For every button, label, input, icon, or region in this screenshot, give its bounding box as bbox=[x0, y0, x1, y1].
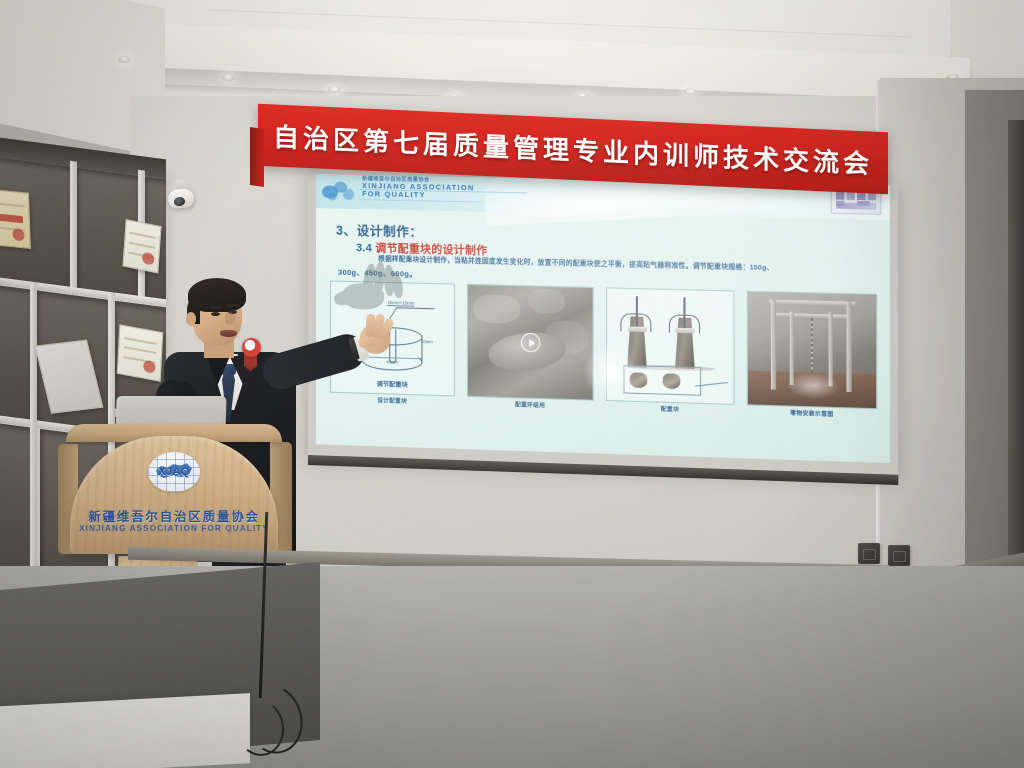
panel4-column-right bbox=[846, 301, 851, 392]
presenter-ear bbox=[186, 312, 196, 326]
red-flower-corsage bbox=[242, 338, 261, 357]
panel-rig-diagram: 零物安装示意图 bbox=[747, 291, 877, 424]
panel1-dim-top: 15mm+10mm bbox=[387, 300, 414, 307]
panel1-dim-bottom: 40mm bbox=[386, 360, 398, 365]
panel4-column-left bbox=[771, 299, 776, 389]
wall-socket-2[interactable] bbox=[888, 545, 910, 566]
presenter-mouth bbox=[220, 330, 237, 337]
panel4-glow bbox=[786, 372, 840, 401]
panel-assembly-photo: 配重环组用 bbox=[467, 284, 594, 415]
conference-room-photo: 新疆维吾尔自治区质量协会 XINJIANG ASSOCIATION FOR QU… bbox=[0, 0, 1024, 768]
panel4-chain bbox=[811, 318, 813, 372]
slide-panel-row: 15mm+10mm 30mm 40mm 调节配重块 设计配重块 bbox=[330, 281, 877, 424]
wall-socket-1[interactable] bbox=[858, 543, 880, 564]
panel-weight-blocks: 配重块 bbox=[606, 287, 734, 419]
lectern: XJAQ 新疆维吾尔自治区质量协会 XINJIANG ASSOCIATION F… bbox=[66, 424, 282, 564]
shelf-divider-v1 bbox=[70, 161, 77, 288]
panel1-center-slot bbox=[389, 329, 396, 363]
shelf-divider-v3 bbox=[30, 282, 37, 579]
xjaq-logo bbox=[322, 179, 356, 204]
slide-subheading: 3.4 调节配重块的设计制作 bbox=[356, 239, 488, 258]
certificate-frame-2 bbox=[117, 324, 164, 382]
shelf-cubby-7 bbox=[0, 423, 34, 579]
panel-rig-diagram-box bbox=[747, 291, 877, 409]
panel3-frame-right bbox=[669, 314, 700, 333]
panel-weight-blocks-box bbox=[606, 287, 734, 405]
downlight-1 bbox=[118, 56, 131, 63]
panel3-chunk-b bbox=[662, 373, 680, 389]
play-icon[interactable] bbox=[520, 332, 539, 352]
projection-screen: 新疆维吾尔自治区质量协会 XINJIANG ASSOCIATION FOR QU… bbox=[308, 168, 898, 476]
shelf-cubby-4 bbox=[0, 285, 30, 420]
panel3-frame-left bbox=[621, 313, 652, 332]
panel1-dim-right: 30mm bbox=[421, 339, 433, 344]
presenter-brow-2 bbox=[227, 304, 240, 307]
emblem-text: XJAQ bbox=[148, 466, 200, 478]
presentation-slide: 新疆维吾尔自治区质量协会 XINJIANG ASSOCIATION FOR QU… bbox=[316, 174, 890, 463]
award-plaque-gold bbox=[0, 189, 31, 249]
lectern-org-en: XINJIANG ASSOCIATION FOR QUALITY bbox=[70, 524, 278, 533]
downlight-3 bbox=[328, 86, 341, 93]
slide-body-line1: 根据样配重块设计制作，当粘并连固度发生变化时，放置不同的配重块使之平衡，提高粘气… bbox=[378, 256, 873, 277]
presenter-eye-1 bbox=[211, 312, 220, 316]
slide-subheading-number: 3.4 bbox=[356, 242, 372, 254]
certificate-frame-1 bbox=[122, 219, 161, 274]
presenter-finger-3 bbox=[366, 314, 376, 337]
downlight-2 bbox=[222, 74, 235, 81]
lectern-front-panel: XJAQ 新疆维吾尔自治区质量协会 XINJIANG ASSOCIATION F… bbox=[70, 436, 278, 554]
foreground-table bbox=[0, 693, 250, 768]
lectern-org-cn: 新疆维吾尔自治区质量协会 bbox=[70, 506, 278, 525]
panel3-chunk-a bbox=[630, 372, 648, 388]
downlight-6 bbox=[684, 88, 697, 95]
slide-heading: 3、设计制作： bbox=[336, 220, 423, 241]
panel-assembly-photo-box[interactable] bbox=[467, 284, 594, 401]
banner-left-fold bbox=[250, 127, 264, 187]
xjaq-emblem: XJAQ bbox=[148, 452, 200, 492]
presenter-brow-1 bbox=[210, 306, 223, 309]
presenter-nose bbox=[225, 312, 235, 325]
